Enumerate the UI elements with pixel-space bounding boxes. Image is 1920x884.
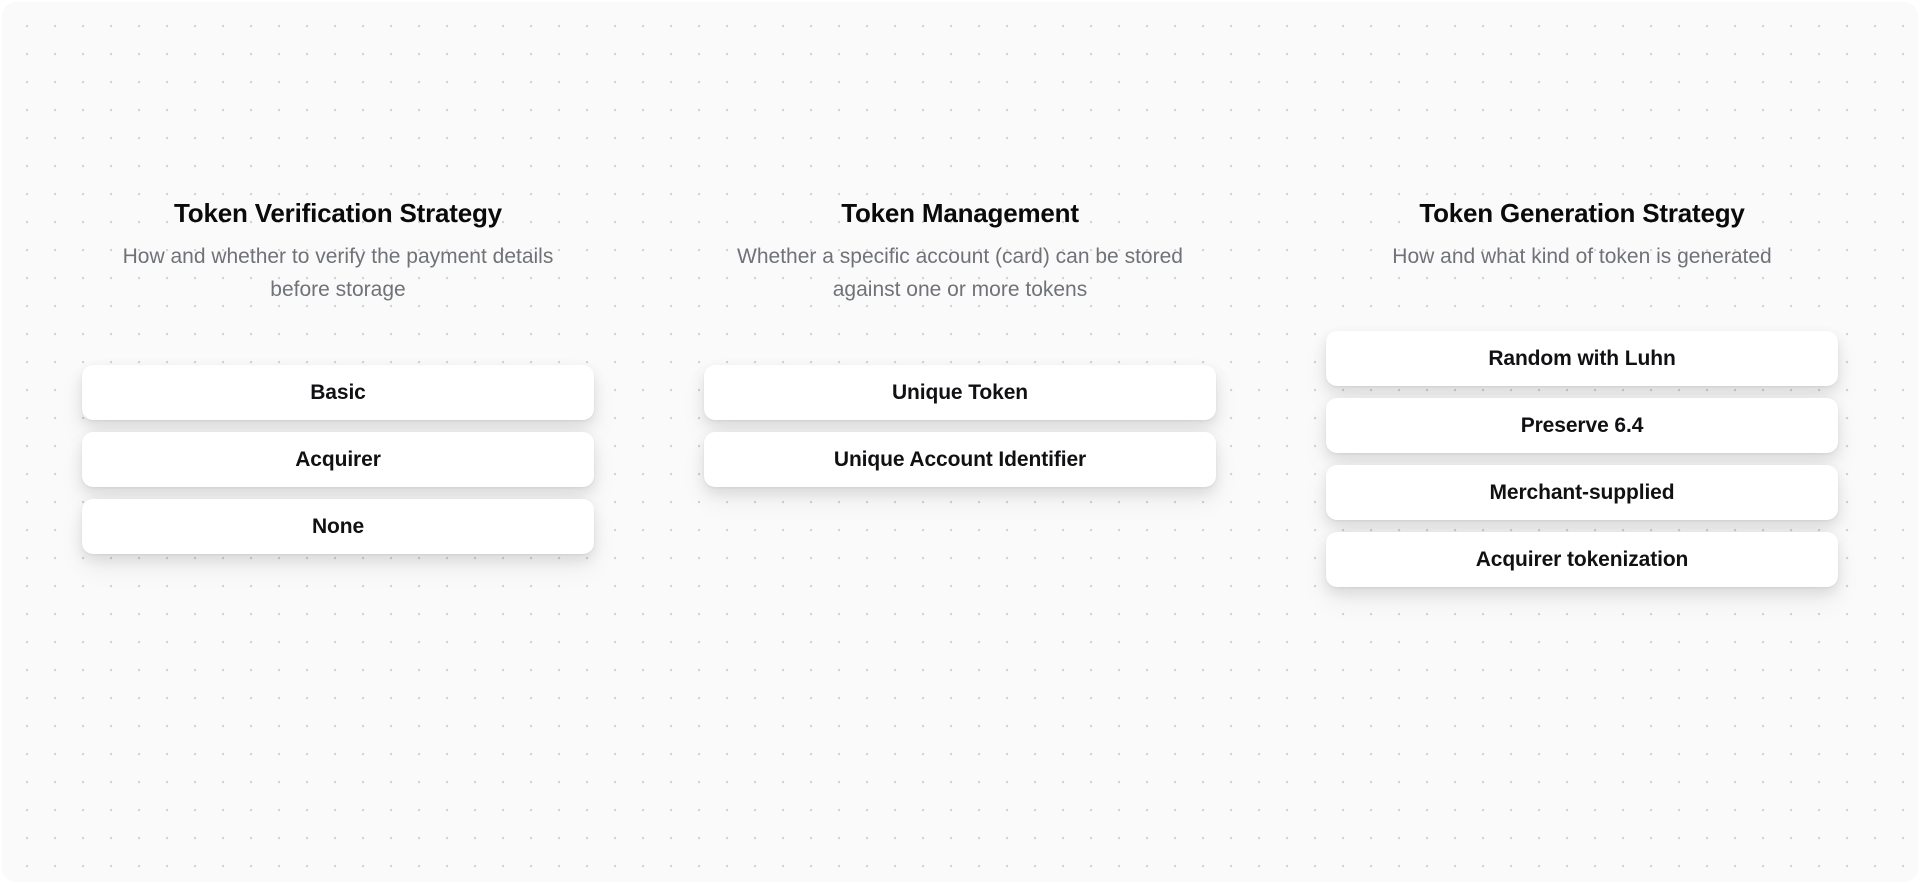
option-card-label: Unique Account Identifier bbox=[834, 449, 1086, 470]
option-card-label: Preserve 6.4 bbox=[1521, 415, 1644, 436]
option-card[interactable]: None bbox=[82, 499, 594, 554]
dotted-board-surface: Token Verification StrategyHow and wheth… bbox=[2, 2, 1918, 882]
column-token-management: Token ManagementWhether a specific accou… bbox=[704, 198, 1216, 487]
option-card[interactable]: Basic bbox=[82, 365, 594, 420]
option-card-label: Merchant-supplied bbox=[1490, 482, 1675, 503]
option-card-label: Basic bbox=[310, 382, 366, 403]
column-token-generation-strategy: Token Generation StrategyHow and what ki… bbox=[1326, 198, 1838, 587]
option-card-list: Unique TokenUnique Account Identifier bbox=[704, 365, 1216, 487]
option-card[interactable]: Acquirer tokenization bbox=[1326, 532, 1838, 587]
option-card-label: None bbox=[312, 516, 364, 537]
column-header: Token Verification StrategyHow and wheth… bbox=[82, 198, 594, 307]
option-card[interactable]: Unique Token bbox=[704, 365, 1216, 420]
column-header: Token ManagementWhether a specific accou… bbox=[704, 198, 1216, 307]
column-title: Token Generation Strategy bbox=[1332, 198, 1832, 229]
column-token-verification-strategy: Token Verification StrategyHow and wheth… bbox=[82, 198, 594, 554]
option-card-label: Random with Luhn bbox=[1488, 348, 1675, 369]
screenshot-canvas: Token Verification StrategyHow and wheth… bbox=[0, 0, 1920, 884]
column-header: Token Generation StrategyHow and what ki… bbox=[1326, 198, 1838, 273]
column-description: How and what kind of token is generated bbox=[1332, 240, 1832, 274]
option-card-list: Random with LuhnPreserve 6.4Merchant-sup… bbox=[1326, 331, 1838, 587]
option-card[interactable]: Merchant-supplied bbox=[1326, 465, 1838, 520]
option-card[interactable]: Unique Account Identifier bbox=[704, 432, 1216, 487]
column-description: How and whether to verify the payment de… bbox=[88, 240, 588, 307]
column-description: Whether a specific account (card) can be… bbox=[710, 240, 1210, 307]
option-card[interactable]: Preserve 6.4 bbox=[1326, 398, 1838, 453]
column-title: Token Management bbox=[710, 198, 1210, 229]
option-card-list: BasicAcquirerNone bbox=[82, 365, 594, 554]
option-card-label: Unique Token bbox=[892, 382, 1028, 403]
column-title: Token Verification Strategy bbox=[88, 198, 588, 229]
option-card-label: Acquirer bbox=[295, 449, 381, 470]
option-card-label: Acquirer tokenization bbox=[1476, 549, 1689, 570]
strategy-columns: Token Verification StrategyHow and wheth… bbox=[2, 2, 1918, 882]
option-card[interactable]: Acquirer bbox=[82, 432, 594, 487]
option-card[interactable]: Random with Luhn bbox=[1326, 331, 1838, 386]
